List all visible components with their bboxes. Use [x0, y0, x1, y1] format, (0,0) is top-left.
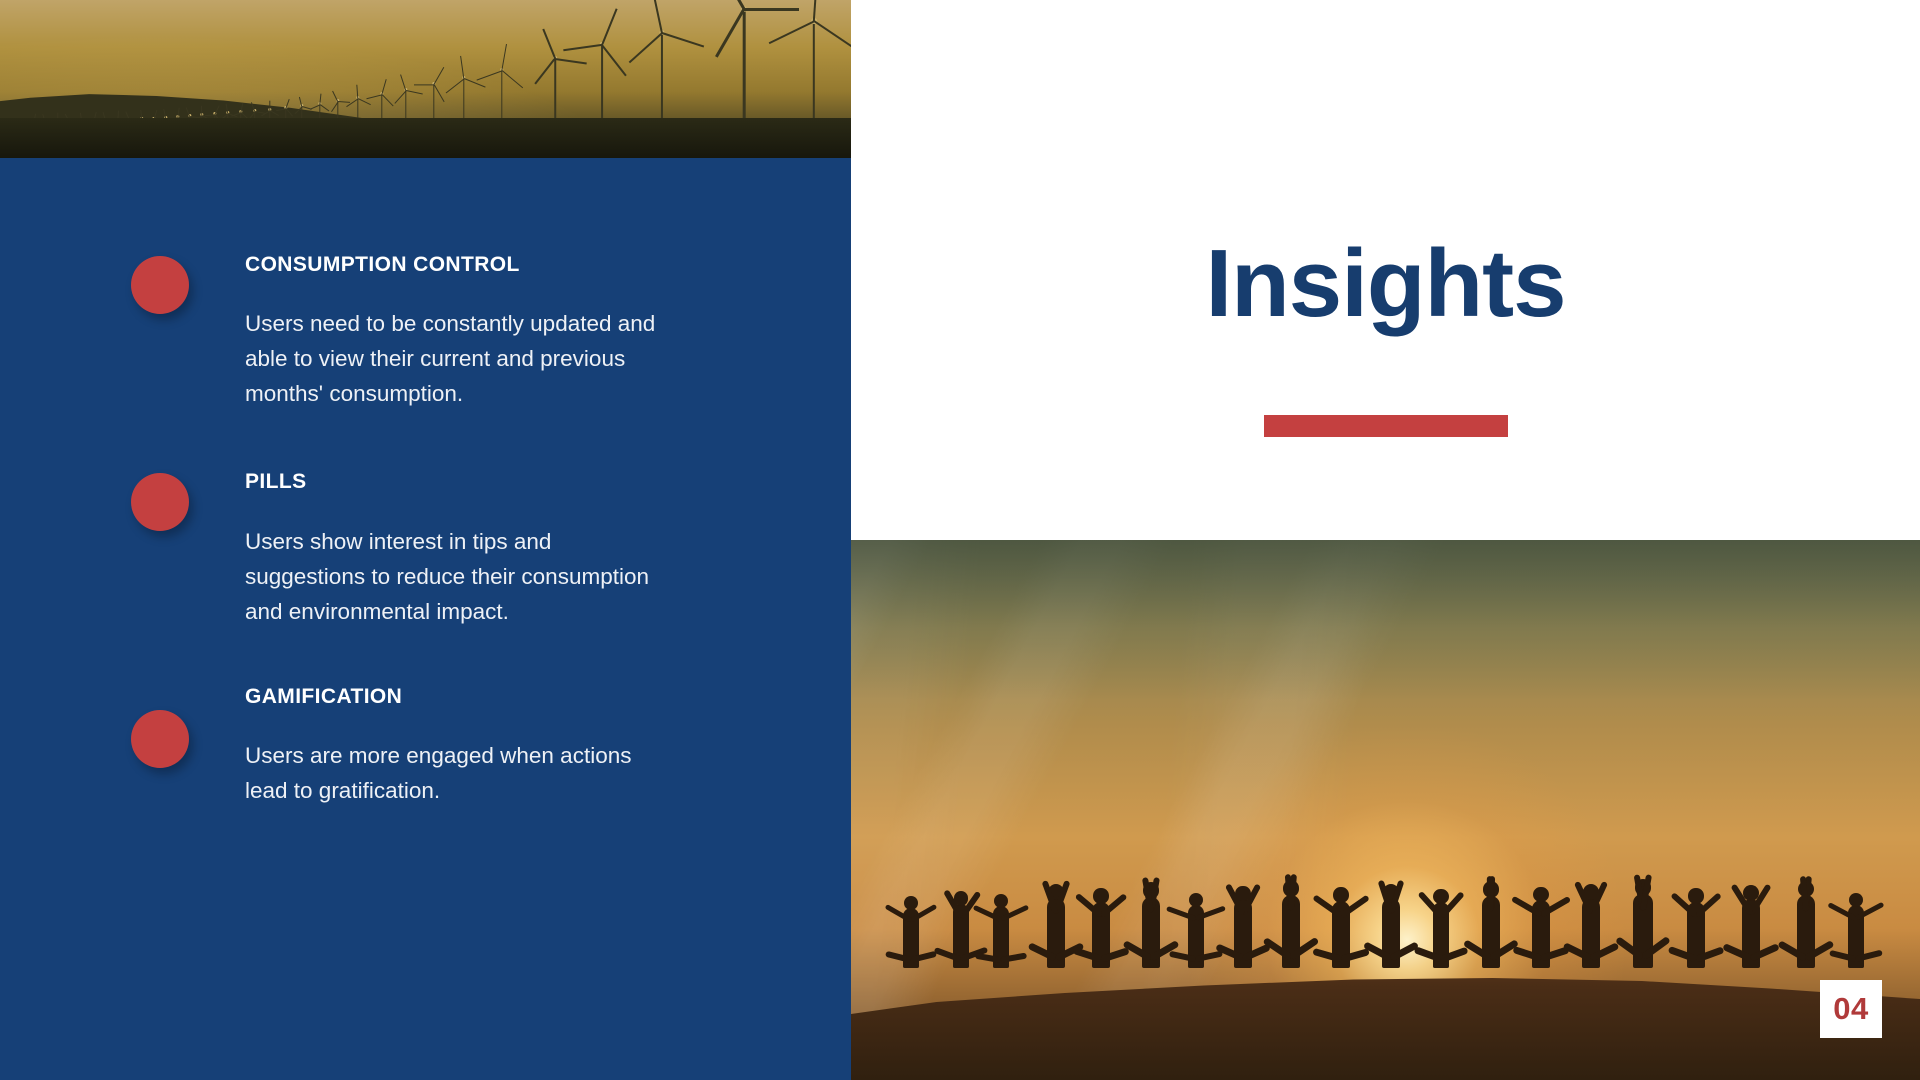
- ground-band: [0, 118, 851, 158]
- presentation-slide: CONSUMPTION CONTROL Users need to be con…: [0, 0, 1920, 1080]
- insight-body: Users are more engaged when actions lead…: [245, 738, 675, 808]
- insight-body: Users need to be constantly updated and …: [245, 306, 675, 411]
- bullet-dot-icon: [131, 473, 189, 531]
- page-title: Insights: [851, 236, 1920, 332]
- title-underline-rule: [1264, 415, 1508, 437]
- bullet-dot-icon: [131, 710, 189, 768]
- right-panel: Insights 04: [851, 0, 1920, 1080]
- wind-turbine-farm-image: [0, 0, 851, 158]
- bullet-dot-icon: [131, 256, 189, 314]
- insight-heading: GAMIFICATION: [245, 685, 402, 709]
- sky-top-shade: [851, 540, 1920, 700]
- insight-heading: CONSUMPTION CONTROL: [245, 253, 520, 277]
- page-number-badge: 04: [1820, 980, 1882, 1038]
- left-panel: CONSUMPTION CONTROL Users need to be con…: [0, 0, 851, 1080]
- insight-body: Users show interest in tips and suggesti…: [245, 524, 675, 629]
- insight-heading: PILLS: [245, 470, 307, 494]
- title-area: Insights: [851, 0, 1920, 540]
- people-silhouette-image: [851, 540, 1920, 1080]
